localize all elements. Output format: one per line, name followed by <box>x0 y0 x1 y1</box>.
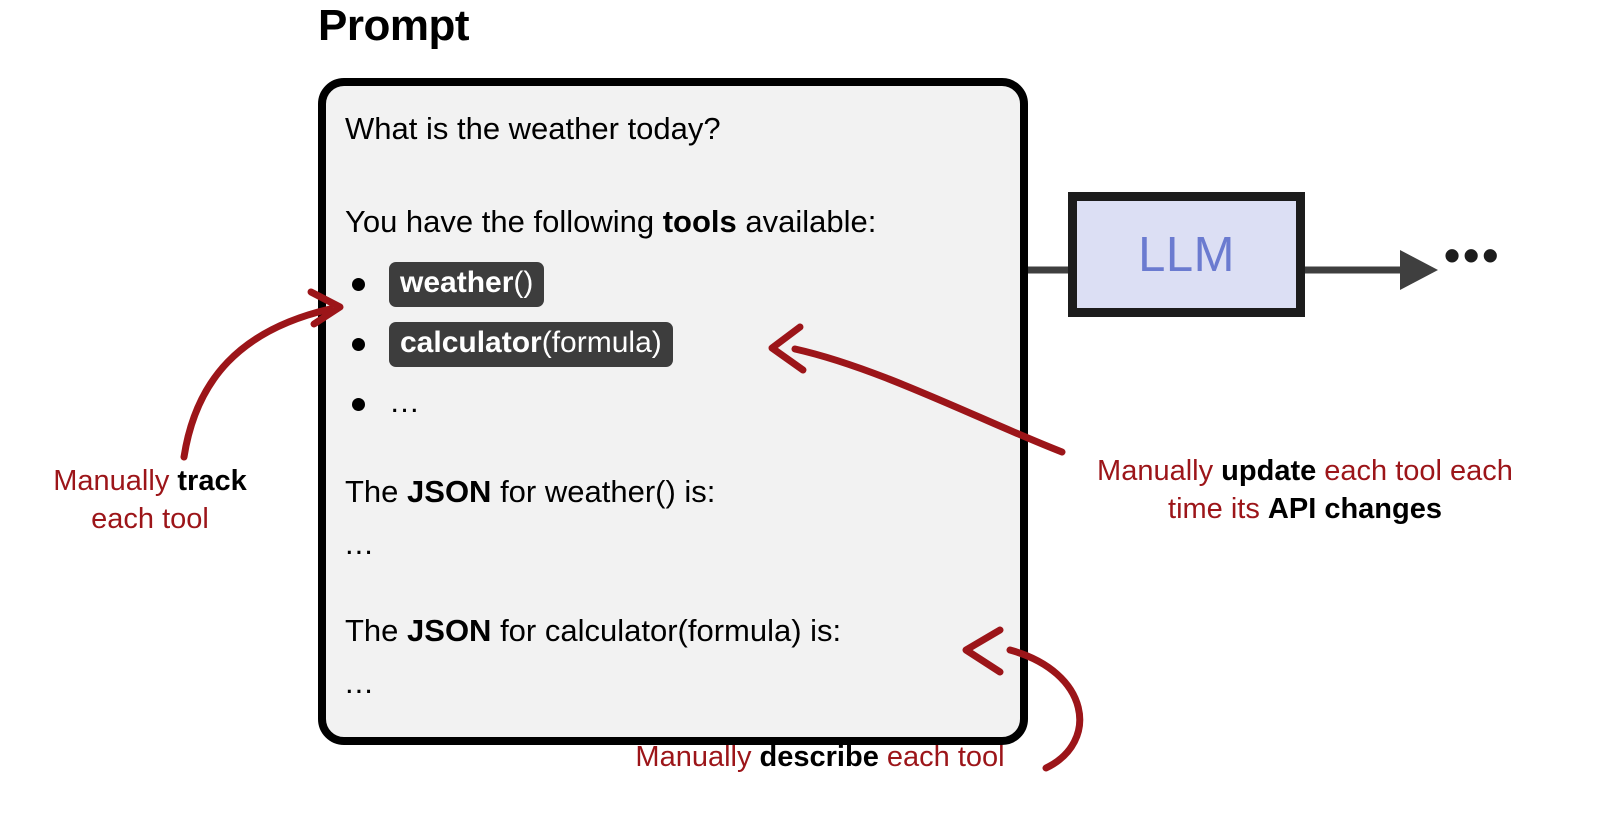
json-keyword: JSON <box>407 613 491 648</box>
tool-chip-weather[interactable]: weather() <box>389 262 544 307</box>
annotation-emphasis-2: API changes <box>1268 493 1442 525</box>
tool-args: (formula) <box>542 326 662 359</box>
annotation-prefix: Manually <box>635 741 759 773</box>
tool-args: () <box>513 266 533 299</box>
tool-name: weather <box>400 266 513 299</box>
llm-box: LLM <box>1068 192 1305 317</box>
tools-intro-keyword: tools <box>663 204 737 239</box>
tool-chip-calculator[interactable]: calculator(formula) <box>389 322 673 367</box>
prompt-json-line-weather: The JSON for weather() is: <box>345 473 715 512</box>
llm-output-ellipsis: ••• <box>1444 232 1501 278</box>
tool-list-item: … <box>352 386 421 423</box>
annotation-suffix: each tool <box>879 741 1005 773</box>
annotation-track-tools: Manually track each tool <box>0 462 300 539</box>
annotation-prefix-2: time its <box>1168 493 1268 525</box>
prompt-tools-intro-line: You have the following tools available: <box>345 203 876 242</box>
json-line-suffix: for weather() is: <box>491 474 715 509</box>
annotation-line-1: Manually update each tool each <box>1022 452 1588 490</box>
prompt-question-line: What is the weather today? <box>345 110 721 149</box>
prompt-json-placeholder-calculator: ... <box>345 664 374 703</box>
bullet-icon <box>352 338 365 351</box>
json-line-prefix: The <box>345 474 407 509</box>
json-line-prefix: The <box>345 613 407 648</box>
json-line-suffix: for calculator(formula) is: <box>491 613 841 648</box>
bullet-icon <box>352 278 365 291</box>
bullet-icon <box>352 398 365 411</box>
annotation-prefix: Manually <box>53 465 177 497</box>
tool-list-item: weather() <box>352 262 544 307</box>
annotation-prefix-2: each tool <box>91 503 209 535</box>
prompt-json-line-calculator: The JSON for calculator(formula) is: <box>345 612 841 651</box>
annotation-suffix: each tool each <box>1316 455 1513 487</box>
prompt-question-text: What is the weather today? <box>345 111 721 146</box>
annotation-line-1: Manually describe each tool <box>540 738 1100 776</box>
prompt-json-placeholder-weather: ... <box>345 525 374 564</box>
llm-label: LLM <box>1138 227 1235 283</box>
annotation-describe-tools: Manually describe each tool <box>540 738 1100 776</box>
annotation-line-1: Manually track <box>0 462 300 500</box>
page-title: Prompt <box>318 2 469 50</box>
annotation-emphasis: update <box>1221 455 1316 487</box>
tools-intro-suffix: available: <box>737 204 877 239</box>
annotation-emphasis: describe <box>760 741 879 773</box>
curved-arrow-track-tools <box>184 309 330 457</box>
tool-name: calculator <box>400 326 542 359</box>
tool-ellipsis: … <box>389 386 421 423</box>
tools-intro-prefix: You have the following <box>345 204 663 239</box>
arrowhead-llm-output-icon <box>1400 250 1438 290</box>
tool-list-item: calculator(formula) <box>352 322 673 367</box>
annotation-prefix: Manually <box>1097 455 1221 487</box>
annotation-line-2: time its API changes <box>1022 490 1588 528</box>
annotation-update-api: Manually update each tool each time its … <box>1022 452 1588 529</box>
json-keyword: JSON <box>407 474 491 509</box>
annotation-emphasis: track <box>177 465 246 497</box>
annotation-line-2: each tool <box>0 500 300 538</box>
